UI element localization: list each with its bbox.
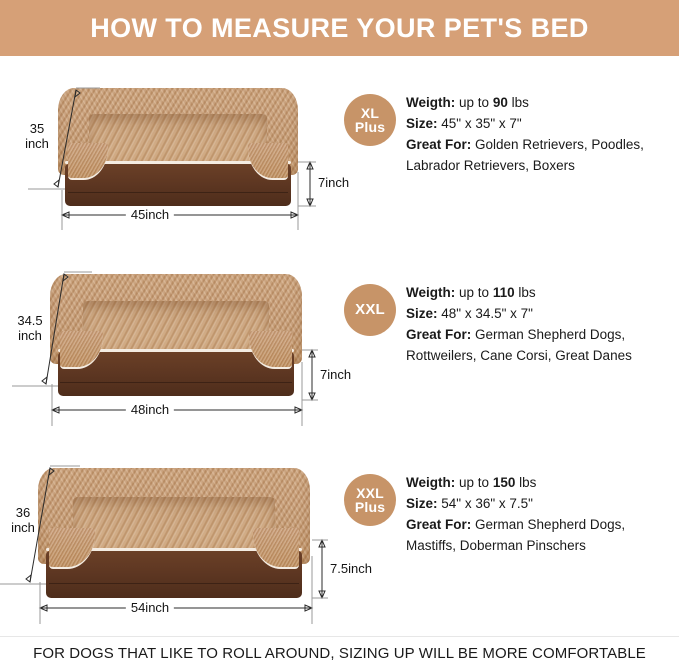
spec-lines: Weigth: up to 150 lbs Size: 54" x 36" x … [406, 472, 678, 556]
spec-weight-prefix: up to [459, 95, 489, 110]
bed-illustration-xl-plus: 35 inch 45inch 7inch [0, 72, 335, 262]
spec-weight: Weigth: up to 110 lbs [406, 282, 678, 303]
bed-illustration-xxl-plus: 36 inch 54inch 7.5inch [0, 452, 335, 642]
spec-lines: Weigth: up to 110 lbs Size: 48" x 34.5" … [406, 282, 678, 366]
footer-note: FOR DOGS THAT LIKE TO ROLL AROUND, SIZIN… [0, 645, 679, 662]
bed-drawing [38, 468, 310, 598]
spec-block-xxl: XXL Weigth: up to 110 lbs Size: 48" x 34… [340, 262, 679, 452]
spec-weight-unit: lbs [519, 475, 536, 490]
spec-size-value: 48" x 34.5" x 7" [441, 306, 533, 321]
size-badge-line2: Plus [355, 120, 385, 134]
spec-great-for-label: Great For: [406, 137, 471, 152]
spec-size-label: Size: [406, 496, 438, 511]
page-title: HOW TO MEASURE YOUR PET'S BED [90, 13, 589, 44]
spec-weight-label: Weigth: [406, 95, 455, 110]
spec-great-for-label: Great For: [406, 517, 471, 532]
spec-great-for: Great For: German Shepherd Dogs, Rottwei… [406, 324, 678, 366]
spec-size-label: Size: [406, 306, 438, 321]
spec-great-for: Great For: Golden Retrievers, Poodles, L… [406, 134, 678, 176]
bed-seam [60, 382, 292, 383]
size-section-xl-plus: 35 inch 45inch 7inch XL Plus Weigth: up … [0, 72, 679, 262]
spec-size-label: Size: [406, 116, 438, 131]
width-dimension-label: 54inch [126, 600, 174, 615]
size-badge-line1: XXL [355, 302, 385, 317]
bed-drawing [58, 88, 298, 206]
size-badge-line2: Plus [355, 500, 385, 514]
bed-illustration-xxl: 34.5 inch 48inch 7inch [0, 262, 335, 452]
spec-size-value: 45" x 35" x 7" [441, 116, 521, 131]
spec-weight-unit: lbs [512, 95, 529, 110]
spec-block-xxl-plus: XXL Plus Weigth: up to 150 lbs Size: 54"… [340, 452, 679, 642]
spec-great-for: Great For: German Shepherd Dogs, Mastiff… [406, 514, 678, 556]
spec-weight-prefix: up to [459, 475, 489, 490]
spec-weight-unit: lbs [518, 285, 535, 300]
spec-size: Size: 48" x 34.5" x 7" [406, 303, 678, 324]
bed-drawing [50, 274, 302, 396]
size-badge-xl-plus: XL Plus [344, 94, 396, 146]
spec-great-for-label: Great For: [406, 327, 471, 342]
width-dimension-label: 48inch [126, 402, 174, 417]
spec-block-xl-plus: XL Plus Weigth: up to 90 lbs Size: 45" x… [340, 72, 679, 262]
depth-dimension-label: 36 inch [0, 506, 46, 536]
size-section-xxl-plus: 36 inch 54inch 7.5inch XXL Plus Weigth: … [0, 452, 679, 642]
spec-weight: Weigth: up to 150 lbs [406, 472, 678, 493]
spec-size: Size: 54" x 36" x 7.5" [406, 493, 678, 514]
depth-dimension-label: 34.5 inch [4, 314, 56, 344]
width-dimension-label: 45inch [126, 207, 174, 222]
depth-dimension-label: 35 inch [14, 122, 60, 152]
size-badge-xxl: XXL [344, 284, 396, 336]
spec-lines: Weigth: up to 90 lbs Size: 45" x 35" x 7… [406, 92, 678, 176]
bed-seam [49, 583, 299, 584]
spec-weight-value: 110 [493, 285, 515, 300]
spec-weight-value: 90 [493, 95, 508, 110]
spec-size: Size: 45" x 35" x 7" [406, 113, 678, 134]
spec-weight-label: Weigth: [406, 285, 455, 300]
spec-weight-value: 150 [493, 475, 516, 490]
footer-divider [0, 636, 679, 637]
size-section-xxl: 34.5 inch 48inch 7inch XXL Weigth: up to… [0, 262, 679, 452]
size-badge-line1: XL [361, 106, 379, 120]
spec-size-value: 54" x 36" x 7.5" [441, 496, 533, 511]
header-banner: HOW TO MEASURE YOUR PET'S BED [0, 0, 679, 56]
bed-seam [68, 192, 289, 193]
size-badge-line1: XXL [356, 486, 384, 500]
spec-weight-prefix: up to [459, 285, 489, 300]
spec-weight-label: Weigth: [406, 475, 455, 490]
spec-weight: Weigth: up to 90 lbs [406, 92, 678, 113]
size-badge-xxl-plus: XXL Plus [344, 474, 396, 526]
